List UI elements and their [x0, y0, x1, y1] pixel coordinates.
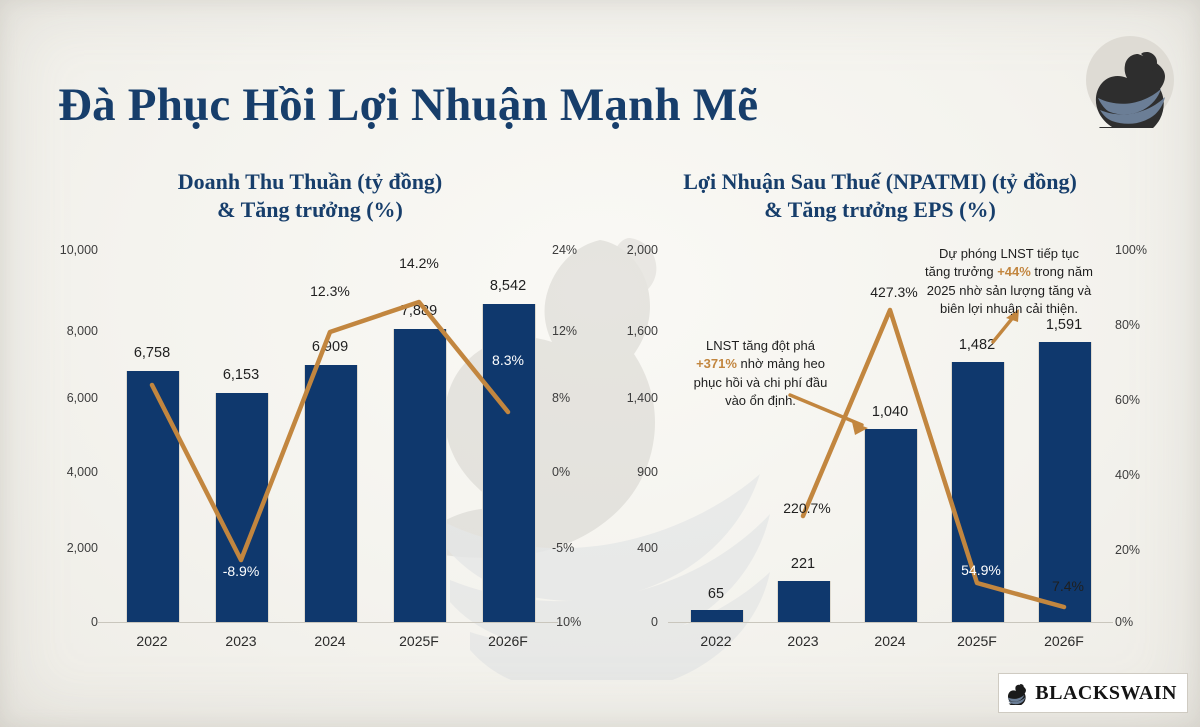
x-axis-line-revenue [98, 622, 558, 623]
ytick-left-5: 2,000 [8, 541, 98, 555]
page-title: Đà Phục Hồi Lợi Nhuận Mạnh Mẽ [58, 78, 758, 132]
ytick2-left-3: 1,400 [592, 391, 658, 405]
annotation-right-line3: 2025 nhờ sản lượng tăng và [927, 283, 1092, 298]
bar-revenue-2022 [126, 371, 180, 622]
ytick-left-2: 8,000 [8, 324, 98, 338]
slide-canvas: Đà Phục Hồi Lợi Nhuận Mạnh Mẽ Doanh Thu … [0, 0, 1200, 727]
bar-label-npatmi-2025f: 1,482 [937, 337, 1017, 353]
pct-label-revenue-2025f: 14.2% [377, 255, 461, 271]
ytick2-left-2: 1,600 [592, 324, 658, 338]
bar-label-npatmi-2023: 221 [763, 556, 843, 572]
bar-npatmi-2025f [951, 362, 1005, 622]
ytick-left-3: 6,000 [8, 391, 98, 405]
pct-label-revenue-2024: 12.3% [288, 283, 372, 299]
ytick2-right-3: 60% [1115, 393, 1185, 407]
xtick-npatmi-2026f: 2026F [1024, 633, 1104, 649]
annotation-left-line4: vào ổn định. [725, 393, 796, 408]
xtick-revenue-2022: 2022 [112, 633, 192, 649]
ytick2-right-2: 80% [1115, 318, 1185, 332]
chart-title-revenue-line1: Doanh Thu Thuần (tỷ đồng) [60, 168, 560, 196]
ytick2-left-5: 400 [592, 541, 658, 555]
bar-npatmi-2023 [777, 581, 831, 622]
pct-label-npatmi-2026f: 7.4% [1022, 578, 1114, 594]
black-swan-logo-icon [1082, 32, 1178, 128]
ytick2-right-1: 100% [1115, 243, 1185, 257]
bar-revenue-2024 [304, 365, 358, 622]
ytick-left-6: 0 [8, 615, 98, 629]
pct-label-revenue-2023: -8.9% [201, 563, 281, 579]
bar-label-npatmi-2026f: 1,591 [1024, 317, 1104, 333]
footer-wordmark: BLACKSWAIN [1035, 682, 1177, 705]
xtick-npatmi-2023: 2023 [763, 633, 843, 649]
ytick2-right-6: 0% [1115, 615, 1185, 629]
bar-revenue-2025f [393, 329, 447, 622]
chart-title-revenue: Doanh Thu Thuần (tỷ đồng) & Tăng trưởng … [60, 168, 560, 224]
ytick-left-1: 10,000 [8, 243, 98, 257]
xtick-revenue-2025f: 2025F [379, 633, 459, 649]
ytick-left-4: 4,000 [8, 465, 98, 479]
annotation-lnst-forecast: Dự phóng LNST tiếp tục tăng trưởng +44% … [898, 245, 1120, 319]
bar-label-revenue-2022: 6,758 [112, 345, 192, 361]
swan-icon-small [1005, 681, 1029, 705]
annotation-right-line2b: trong năm [1031, 264, 1093, 279]
bar-revenue-2023 [215, 393, 269, 622]
ytick2-left-4: 900 [592, 465, 658, 479]
xtick-revenue-2023: 2023 [201, 633, 281, 649]
pct-label-npatmi-2023: 220.7% [761, 500, 853, 516]
xtick-npatmi-2022: 2022 [676, 633, 756, 649]
bar-label-revenue-2023: 6,153 [201, 367, 281, 383]
annotation-left-highlight: +371% [696, 356, 737, 371]
xtick-npatmi-2024: 2024 [850, 633, 930, 649]
chart-title-npatmi: Lợi Nhuận Sau Thuế (NPATMI) (tỷ đồng) & … [610, 168, 1150, 224]
annotation-right-line2a: tăng trưởng [925, 264, 997, 279]
annotation-left-line3: phục hồi và chi phí đầu [694, 375, 828, 390]
ytick2-right-5: 20% [1115, 543, 1185, 557]
bar-npatmi-2022 [690, 610, 744, 622]
chart-title-npatmi-line2: & Tăng trưởng EPS (%) [610, 196, 1150, 224]
ytick2-left-1: 2,000 [592, 243, 658, 257]
annotation-lnst-breakout: LNST tăng đột phá +371% nhờ mảng heo phụ… [658, 337, 863, 411]
x-axis-line-npatmi [668, 622, 1113, 623]
annotation-right-line4: biên lợi nhuận cải thiện. [940, 301, 1078, 316]
chart-title-revenue-line2: & Tăng trưởng (%) [60, 196, 560, 224]
annotation-right-line1: Dự phóng LNST tiếp tục [939, 246, 1079, 261]
bar-label-revenue-2024: 6,909 [290, 339, 370, 355]
footer-brand: BLACKSWAIN [998, 673, 1188, 713]
pct-label-npatmi-2025f: 54.9% [935, 562, 1027, 578]
annotation-right-highlight: +44% [997, 264, 1031, 279]
chart-title-npatmi-line1: Lợi Nhuận Sau Thuế (NPATMI) (tỷ đồng) [610, 168, 1150, 196]
annotation-left-line1: LNST tăng đột phá [706, 338, 815, 353]
xtick-revenue-2024: 2024 [290, 633, 370, 649]
bar-npatmi-2024 [864, 429, 918, 622]
xtick-revenue-2026f: 2026F [468, 633, 548, 649]
ytick2-right-4: 40% [1115, 468, 1185, 482]
xtick-npatmi-2025f: 2025F [937, 633, 1017, 649]
bar-label-revenue-2026f: 8,542 [468, 278, 548, 294]
bar-label-npatmi-2022: 65 [676, 586, 756, 602]
pct-label-revenue-2026f: 8.3% [466, 352, 550, 368]
annotation-left-line2: nhờ mảng heo [737, 356, 825, 371]
ytick2-left-6: 0 [592, 615, 658, 629]
bar-label-revenue-2025f: 7,889 [379, 303, 459, 319]
